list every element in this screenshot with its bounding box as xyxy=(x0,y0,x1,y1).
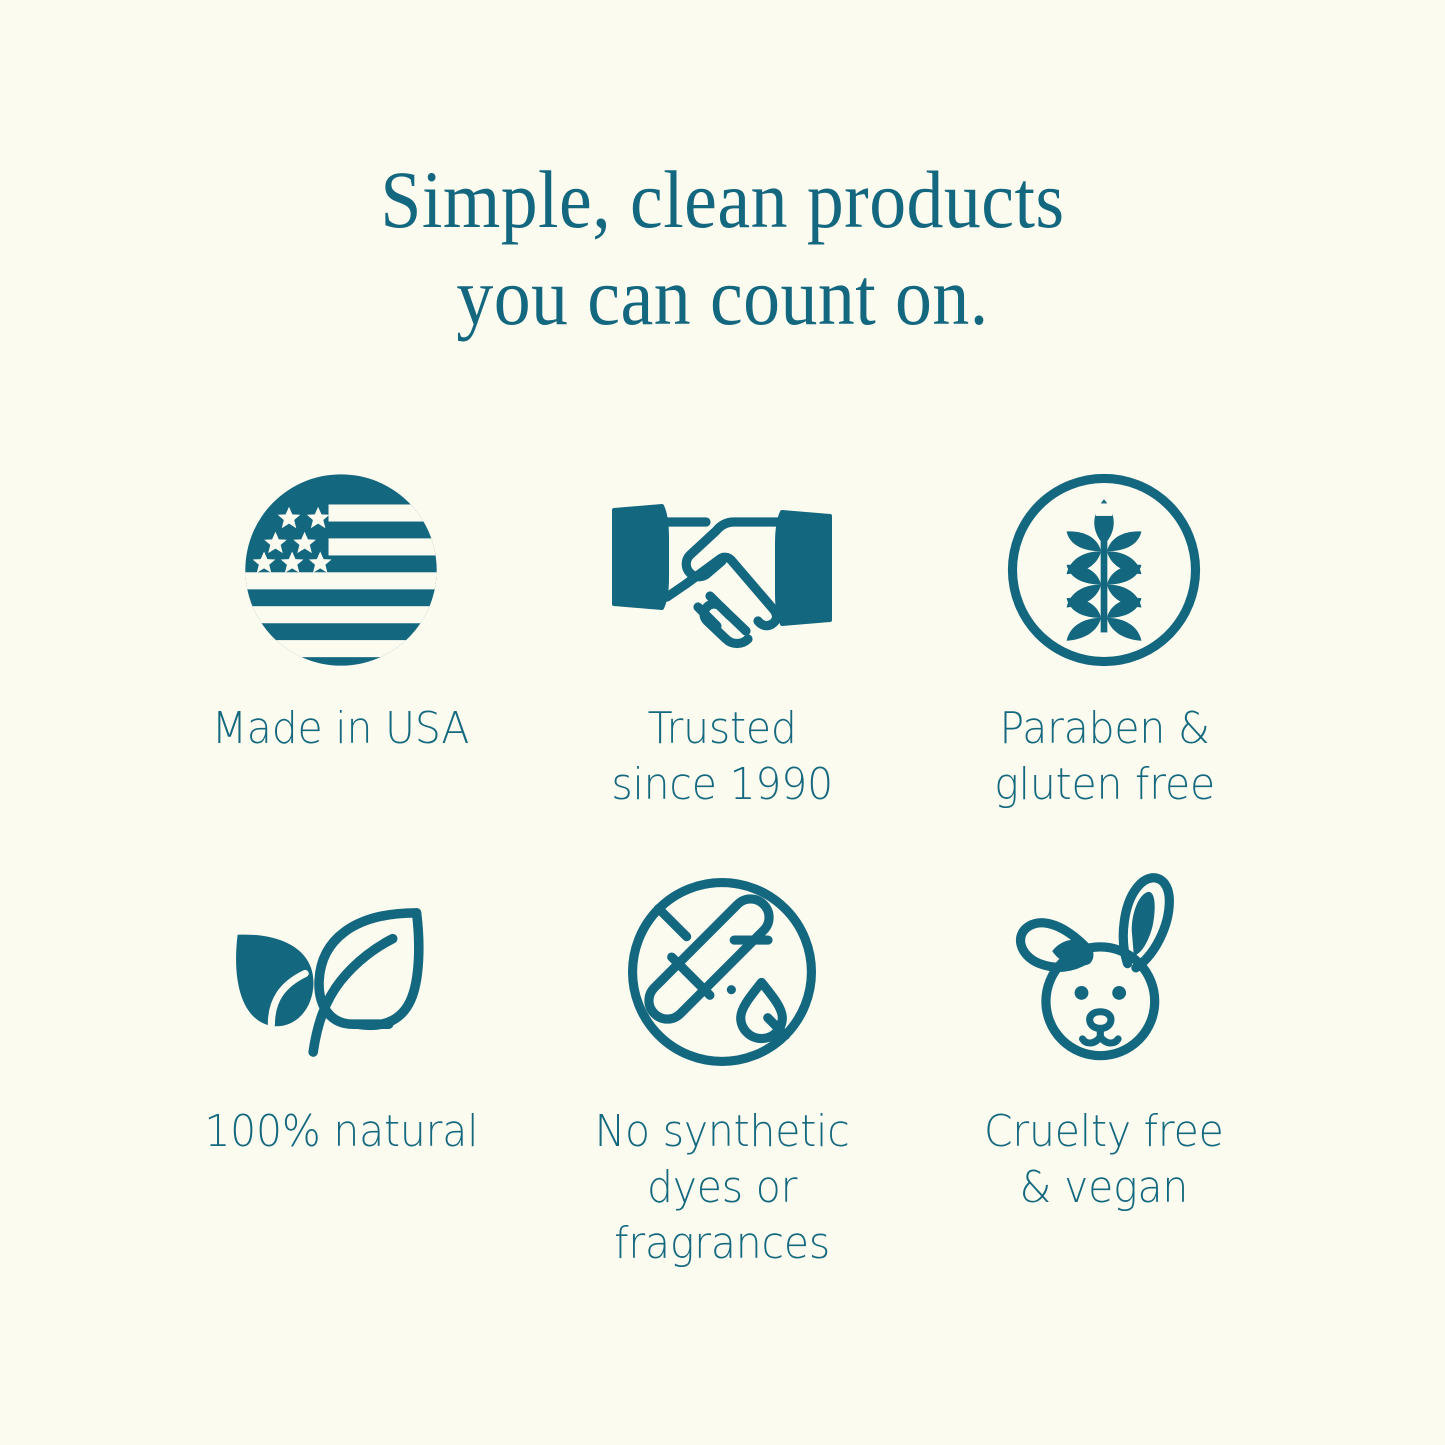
no-test-tube-icon xyxy=(615,855,830,1090)
badge-100-natural: 100% natural xyxy=(150,855,532,1272)
badge-label: 100% natural xyxy=(204,1104,478,1160)
badge-made-in-usa: Made in USA xyxy=(150,452,532,813)
headline-line-1: Simple, clean products xyxy=(72,152,1373,249)
badge-trusted-since: Trusted since 1990 xyxy=(532,452,914,813)
badge-cruelty-free-vegan: Cruelty free & vegan xyxy=(913,855,1295,1272)
handshake-icon xyxy=(615,452,830,687)
page-title: Simple, clean products you can count on. xyxy=(72,152,1373,346)
badge-grid: Made in USA xyxy=(150,452,1295,1271)
wheat-circle-icon xyxy=(997,452,1212,687)
badge-no-synthetic-dyes: No synthetic dyes or fragrances xyxy=(532,855,914,1272)
bunny-icon xyxy=(997,855,1212,1090)
flag-circle-icon xyxy=(233,452,448,687)
badge-paraben-gluten-free: Paraben & gluten free xyxy=(913,452,1295,813)
badge-label: Cruelty free & vegan xyxy=(984,1104,1224,1216)
badge-label: Made in USA xyxy=(212,701,469,757)
badge-label: No synthetic dyes or fragrances xyxy=(595,1104,850,1272)
headline-line-2: you can count on. xyxy=(72,249,1373,346)
badge-label: Paraben & gluten free xyxy=(994,701,1215,813)
promo-graphic: Simple, clean products you can count on. xyxy=(0,0,1445,1445)
badge-label: Trusted since 1990 xyxy=(612,701,834,813)
leaves-icon xyxy=(233,855,448,1090)
